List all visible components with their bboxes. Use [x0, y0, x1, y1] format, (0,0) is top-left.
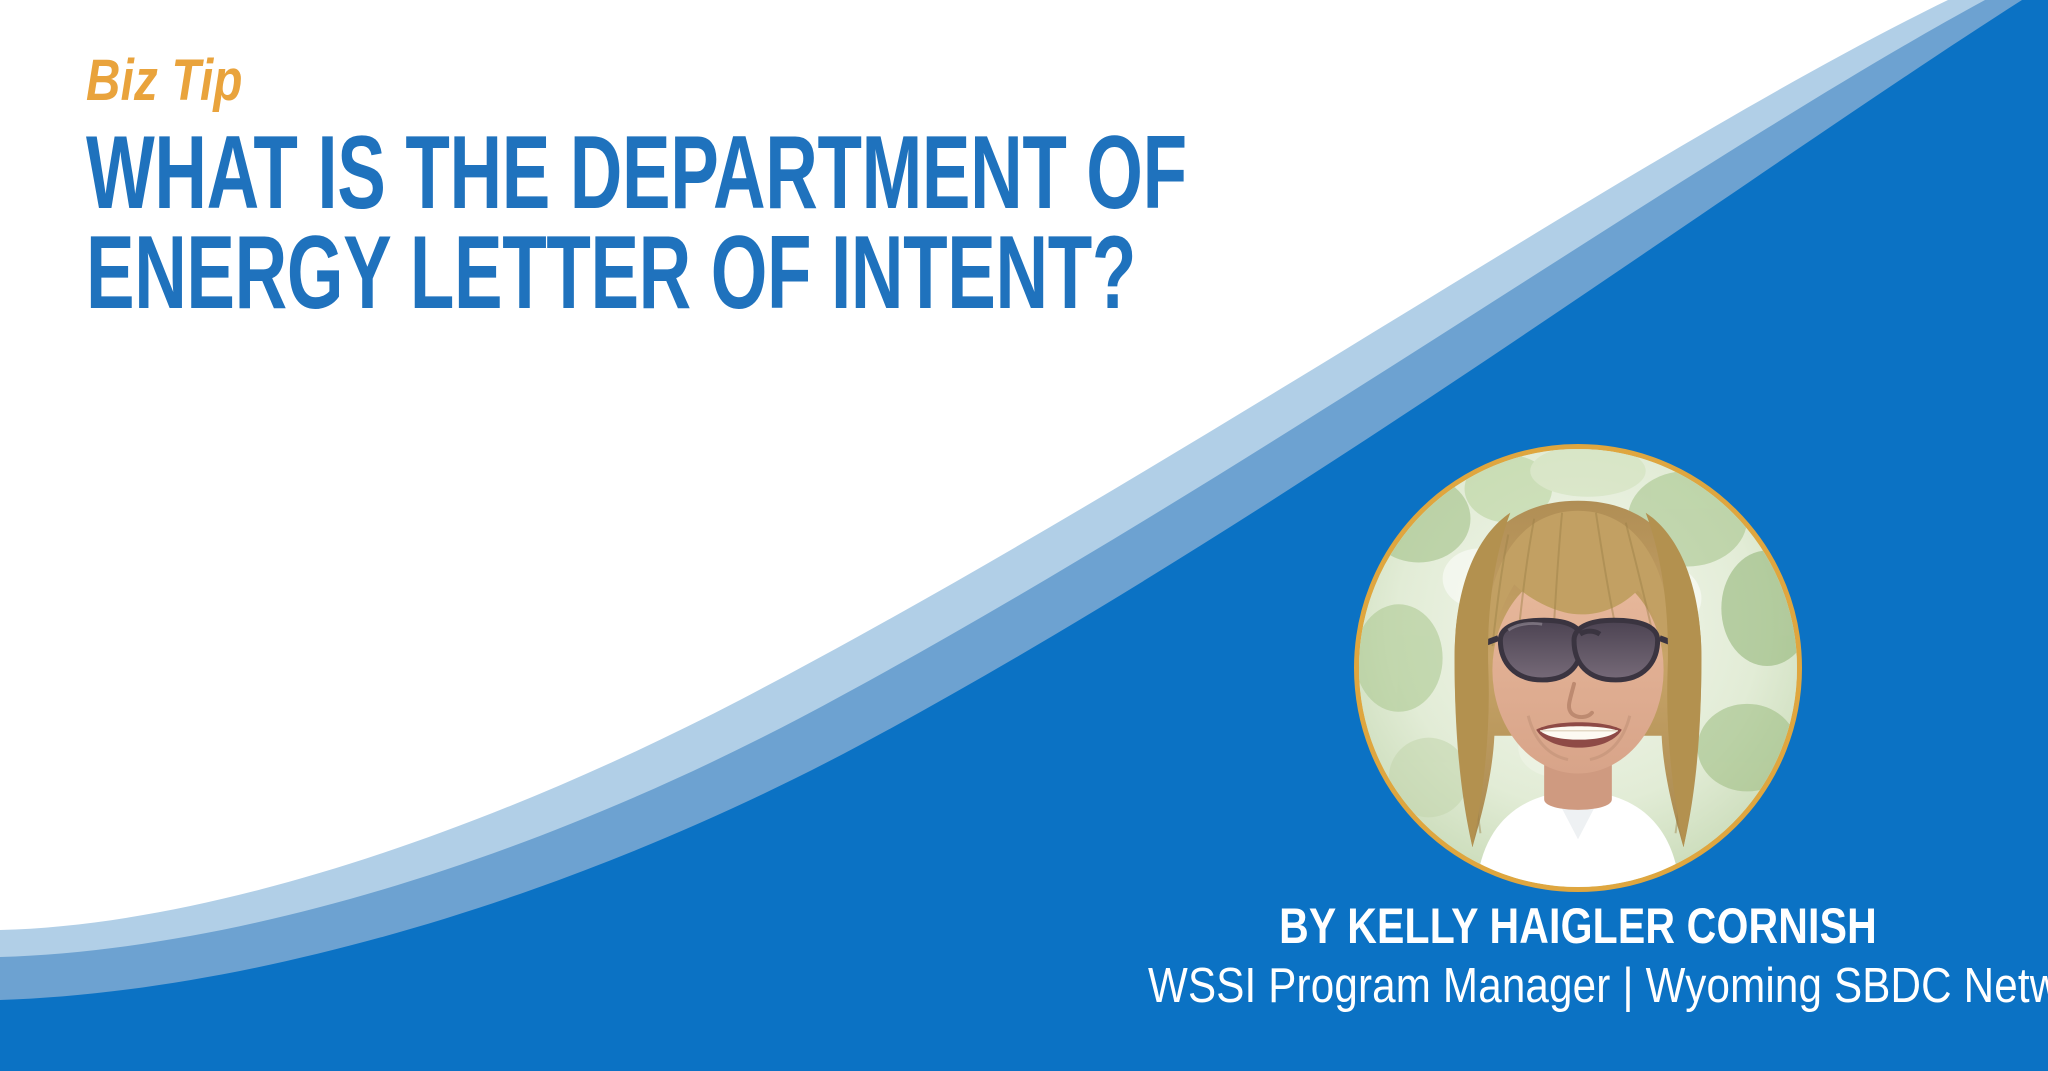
byline: BY KELLY HAIGLER CORNISH WSSI Program Ma… — [1078, 900, 2048, 1014]
headline-line-2: ENERGY LETTER OF INTENT? — [86, 224, 961, 324]
biz-tip-banner: Biz Tip WHAT IS THE DEPARTMENT OF ENERGY… — [0, 0, 2048, 1071]
author-portrait-illustration — [1359, 449, 1797, 887]
byline-separator: | — [1610, 959, 1645, 1013]
headline-line-1: WHAT IS THE DEPARTMENT OF — [86, 124, 961, 224]
author-role: WSSI Program Manager|Wyoming SBDC Networ… — [1148, 959, 2008, 1014]
avatar — [1354, 444, 1802, 892]
author-role-title: WSSI Program Manager — [1148, 959, 1610, 1013]
headline-block: Biz Tip WHAT IS THE DEPARTMENT OF ENERGY… — [86, 52, 1336, 324]
author-name: BY KELLY HAIGLER CORNISH — [1168, 900, 1988, 953]
page-title: WHAT IS THE DEPARTMENT OF ENERGY LETTER … — [86, 124, 1336, 324]
eyebrow-label: Biz Tip — [86, 52, 1111, 110]
author-organization: Wyoming SBDC Network — [1646, 959, 2048, 1013]
